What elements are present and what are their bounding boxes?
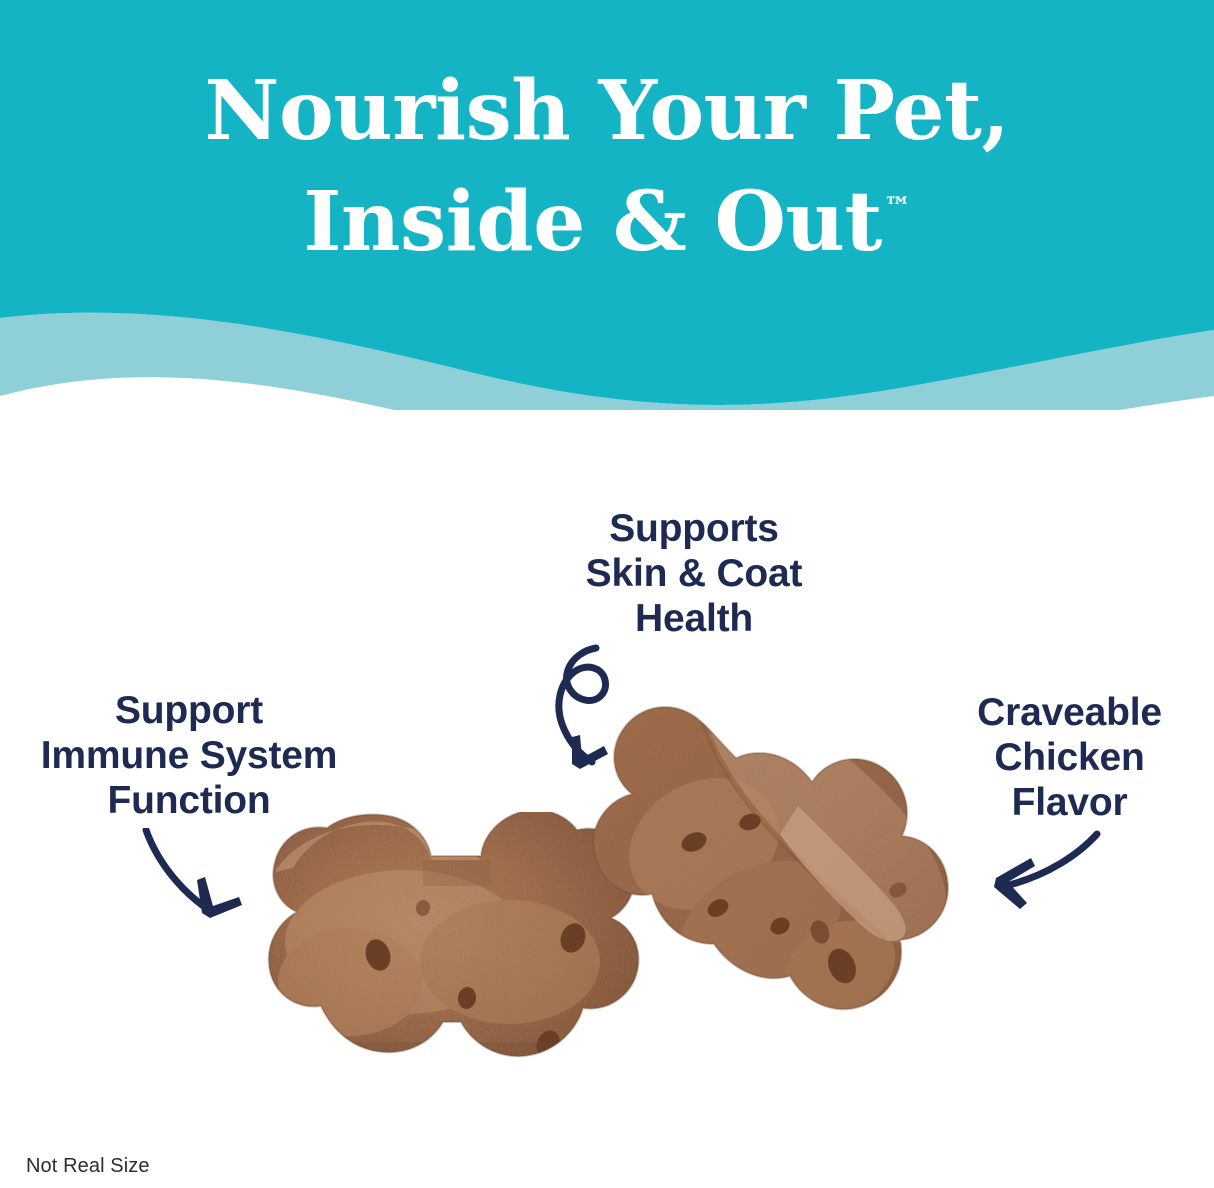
header-banner: Nourish Your Pet, Inside & Out™ [0,0,1214,410]
trademark-symbol: ™ [884,192,911,223]
page-title-line-2: Inside & Out™ [0,167,1214,278]
page-title-line-1: Nourish Your Pet, [0,56,1214,167]
callout-label-skin-coat: Supports Skin & Coat Health [492,506,896,642]
dog-treat-bone-right [584,694,1004,1074]
arrowhead [197,877,242,918]
page-title: Nourish Your Pet, Inside & Out™ [0,56,1214,277]
callout-label-immune-system: Support Immune System Function [0,688,378,824]
bone-body-right [584,694,1004,1074]
promo-image-canvas: Nourish Your Pet, Inside & Out™ Supports… [0,0,1214,1188]
not-real-size-disclaimer: Not Real Size [26,1155,150,1178]
dog-treat-bone-right-graphic [584,694,1004,1074]
page-title-line-2-text: Inside & Out [303,174,882,270]
